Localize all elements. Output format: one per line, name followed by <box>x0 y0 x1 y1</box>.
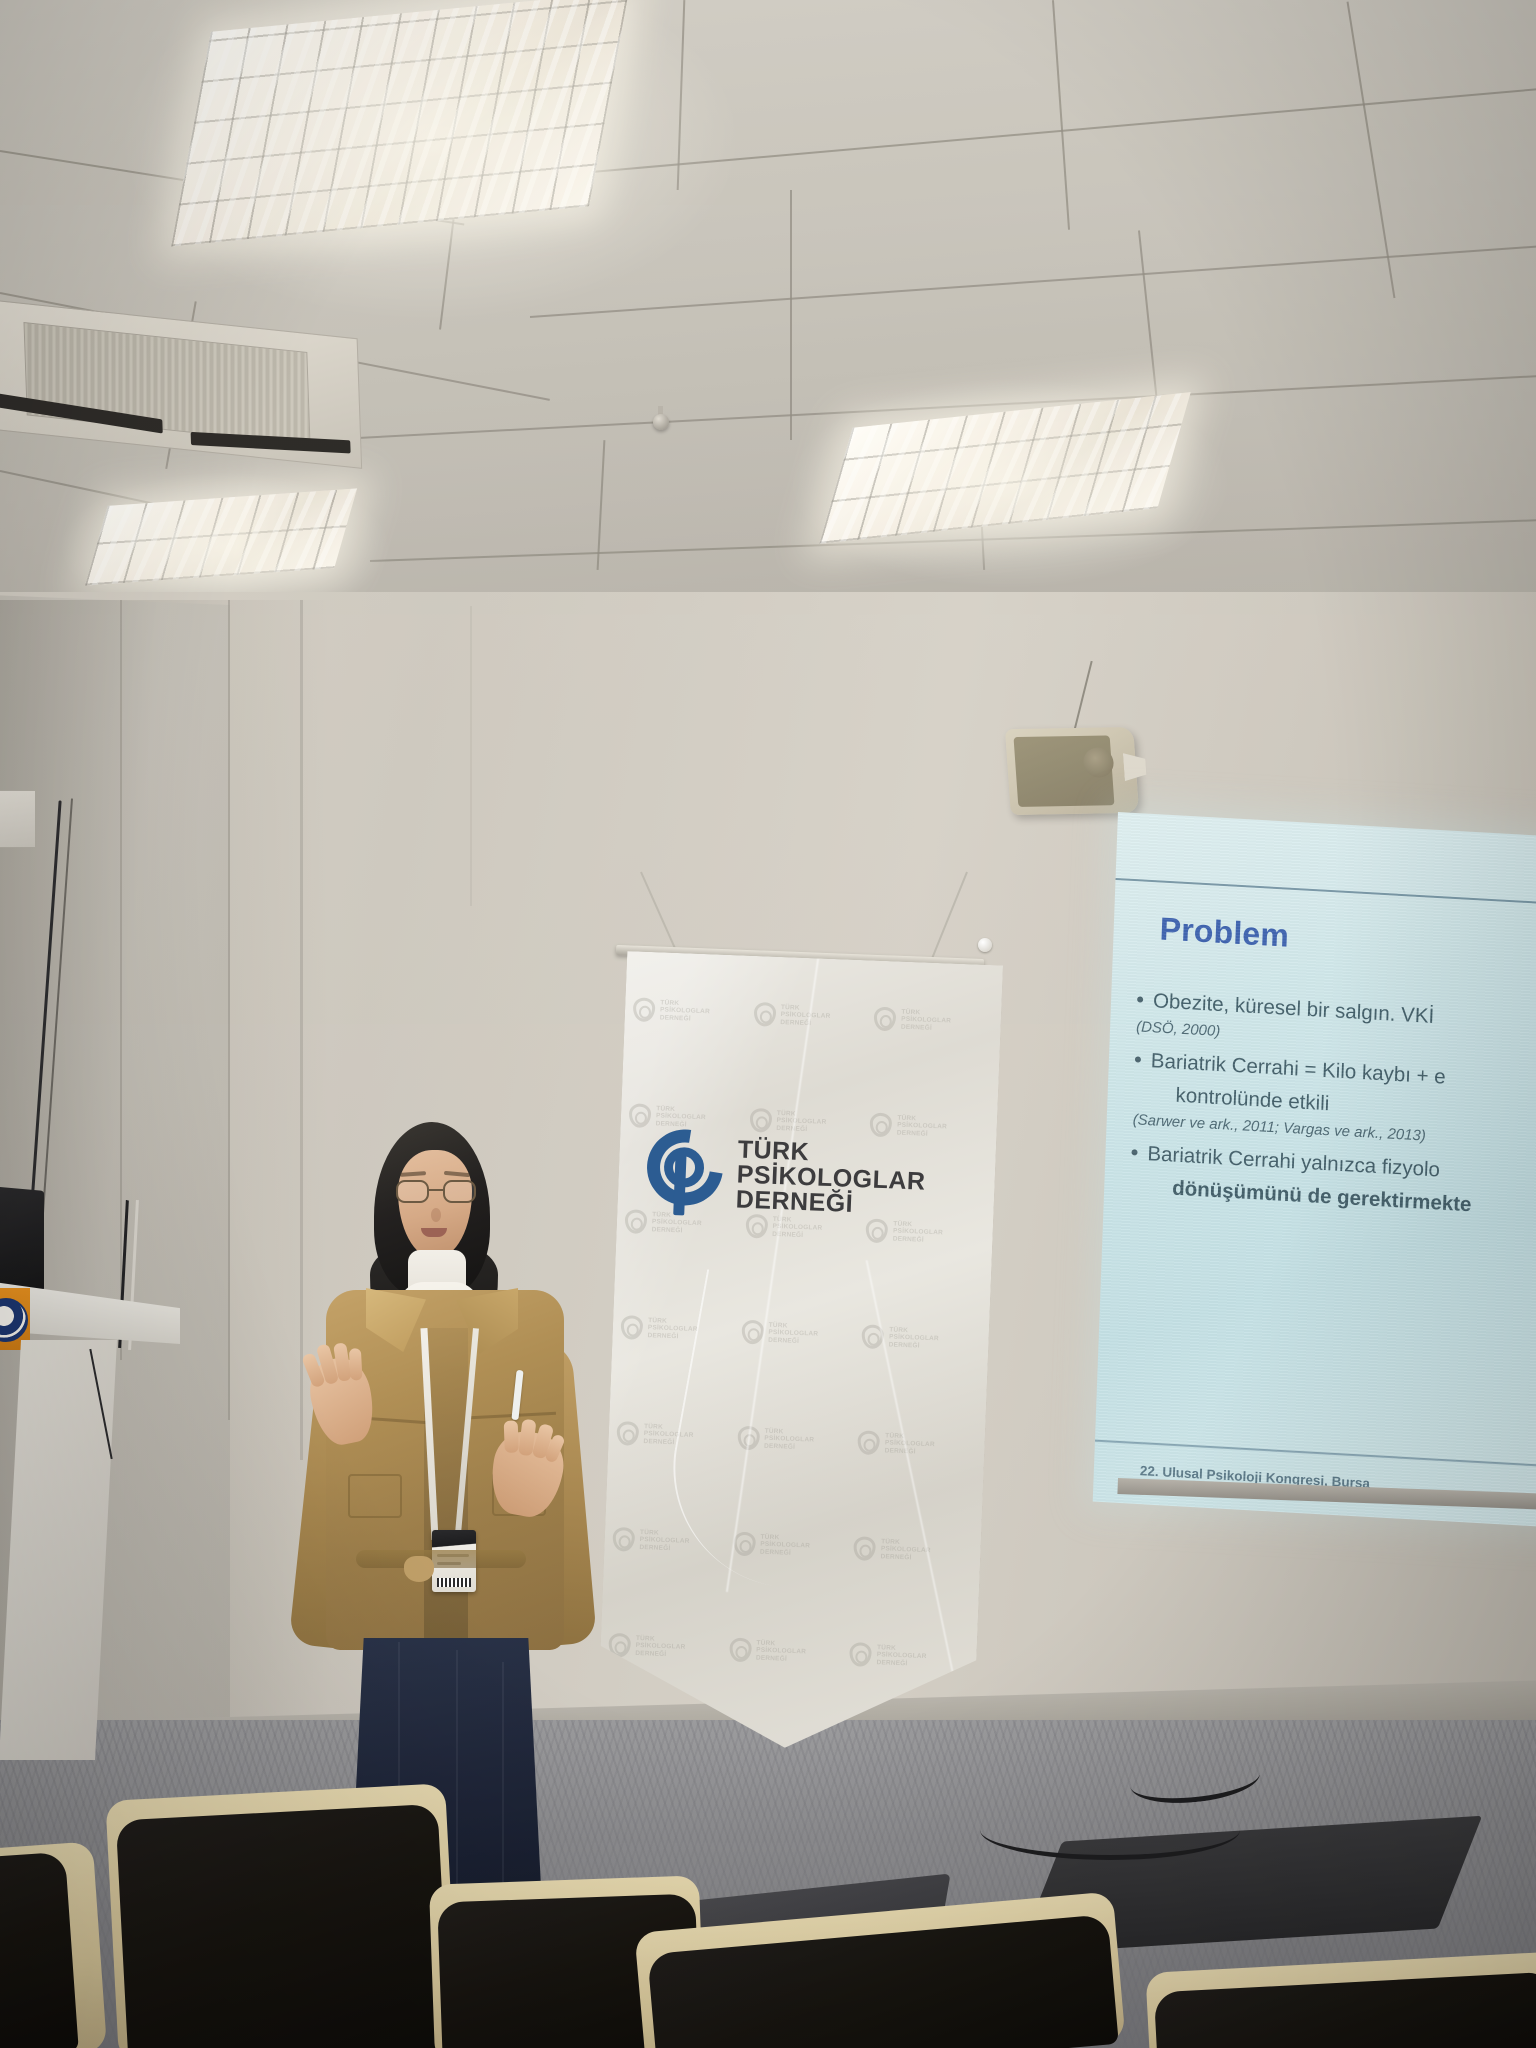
conference-photo: Problem Obezite, küresel bir salgın. VKİ… <box>0 0 1536 2048</box>
fire-sprinkler-icon <box>653 414 669 430</box>
watermark-text: TÜRKPSİKOLOGLARDERNEĞİ <box>647 1317 698 1341</box>
logo-p-icon <box>729 1638 752 1663</box>
bullet-dot-icon <box>1131 1149 1137 1155</box>
watermark-text: TÜRKPSİKOLOGLARDERNEĞİ <box>776 1110 827 1134</box>
tpd-logo-icon <box>645 1128 724 1217</box>
logo-p-icon <box>629 1103 652 1128</box>
presenter <box>286 1122 606 1882</box>
logo-p-icon <box>870 1113 893 1138</box>
slide-title: Problem <box>1159 911 1290 955</box>
watermark-text: TÜRKPSİKOLOGLARDERNEĞİ <box>901 1009 952 1033</box>
projection-screen: Problem Obezite, küresel bir salgın. VKİ… <box>1093 812 1536 1527</box>
watermark-text: TÜRKPSİKOLOGLARDERNEĞİ <box>756 1640 807 1664</box>
logo-p-icon <box>633 997 656 1022</box>
watermark-text: TÜRKPSİKOLOGLARDERNEĞİ <box>656 1105 707 1129</box>
jacket-drawstring-knot <box>404 1556 434 1582</box>
watermark-text: TÜRKPSİKOLOGLARDERNEĞİ <box>660 999 711 1023</box>
chair[interactable] <box>0 1852 79 2048</box>
jacket-pocket <box>348 1474 402 1518</box>
banner-hook <box>978 938 992 952</box>
lectern-monitor <box>0 1185 44 1291</box>
logo-p-icon <box>616 1421 639 1446</box>
slide-body: Obezite, küresel bir salgın. VKİ (DSÖ, 2… <box>1130 979 1536 1231</box>
wall-seam <box>228 600 230 1420</box>
wall-seam <box>470 606 472 906</box>
bullet-dot-icon <box>1135 1056 1141 1062</box>
wall-junction-box <box>0 790 36 848</box>
presentation-slide: Problem Obezite, küresel bir salgın. VKİ… <box>1093 812 1536 1527</box>
floor-cable <box>980 1800 1240 1860</box>
wall-seam <box>120 600 122 1360</box>
banner-logo: TÜRK PSİKOLOGLAR DERNEĞİ <box>645 1128 927 1225</box>
jacket-drawstring <box>356 1550 526 1568</box>
watermark-text: TÜRKPSİKOLOGLARDERNEĞİ <box>639 1529 690 1553</box>
logo-p-icon <box>612 1527 635 1552</box>
ac-grille <box>24 322 310 446</box>
slide-top-rule <box>1116 878 1536 906</box>
bullet-dot-icon <box>1137 996 1143 1002</box>
logo-p-icon <box>749 1108 772 1133</box>
banner-logo-text: TÜRK PSİKOLOGLAR DERNEĞİ <box>735 1137 927 1219</box>
watermark-text: TÜRKPSİKOLOGLARDERNEĞİ <box>635 1635 686 1659</box>
nose <box>431 1208 441 1222</box>
association-banner: TÜRKPSİKOLOGLARDERNEĞİ TÜRKPSİKOLOGLARDE… <box>597 951 1003 1755</box>
logo-p-icon <box>620 1315 643 1340</box>
logo-p-icon <box>753 1002 776 1027</box>
chair[interactable] <box>116 1804 450 2048</box>
eyeglasses-icon <box>396 1180 476 1204</box>
slide-footer-rule <box>1095 1440 1536 1468</box>
watermark-text: TÜRKPSİKOLOGLARDERNEĞİ <box>897 1115 948 1139</box>
wall-speaker <box>1005 727 1139 815</box>
watermark-text: TÜRKPSİKOLOGLARDERNEĞİ <box>780 1004 831 1028</box>
logo-p-icon <box>624 1209 647 1234</box>
watermark-text: TÜRKPSİKOLOGLARDERNEĞİ <box>876 1644 927 1668</box>
logo-p-icon <box>874 1007 897 1032</box>
logo-p-icon <box>849 1642 872 1667</box>
